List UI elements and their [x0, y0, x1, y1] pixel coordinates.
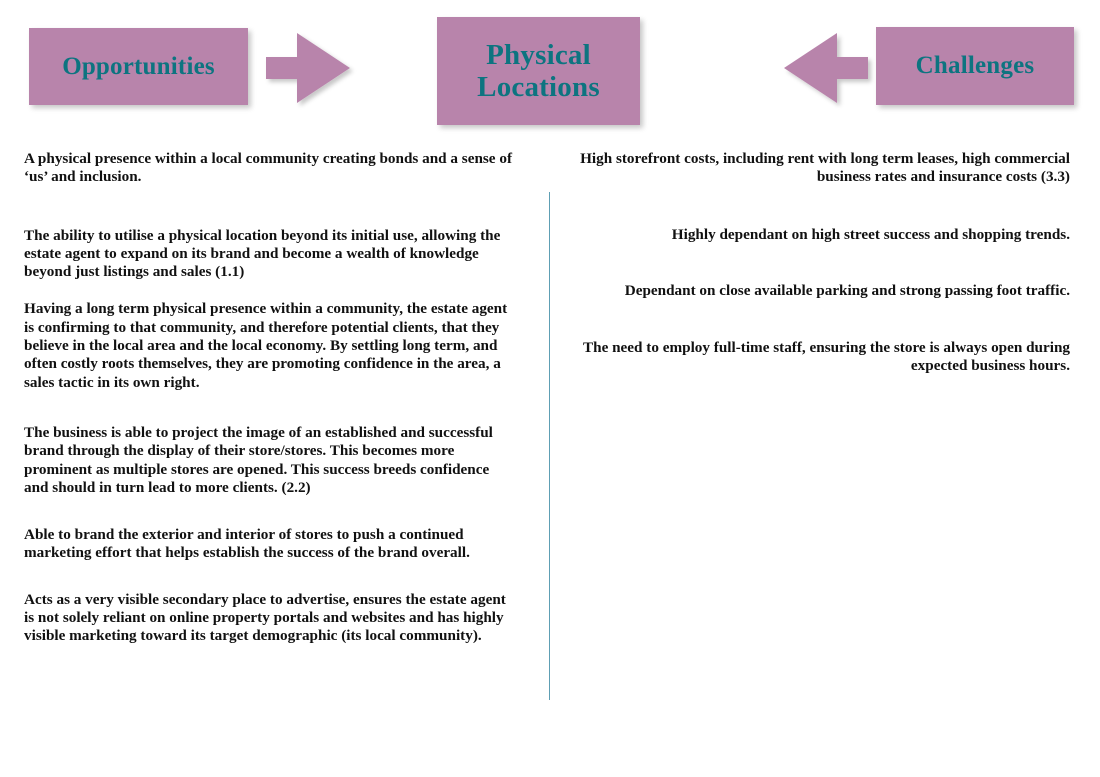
challenges-header-label: Challenges: [876, 52, 1074, 80]
opportunities-paragraph: Acts as a very visible secondary place t…: [24, 591, 516, 646]
physical-locations-line-1: Physical: [486, 39, 591, 71]
slide-canvas: Opportunities Physical Locations: [0, 0, 1100, 777]
column-divider: [549, 192, 550, 700]
arrow-right-icon: [262, 30, 354, 106]
challenges-paragraph: Dependant on close available parking and…: [575, 282, 1070, 300]
opportunities-header-box: Opportunities: [29, 28, 248, 105]
physical-locations-line-2: Locations: [477, 71, 600, 103]
challenges-paragraph: High storefront costs, including rent wi…: [575, 150, 1070, 187]
physical-locations-header-box: Physical Locations: [437, 17, 640, 125]
opportunities-column: A physical presence within a local commu…: [24, 150, 516, 646]
opportunities-paragraph: The ability to utilise a physical locati…: [24, 227, 516, 282]
opportunities-paragraph: Able to brand the exterior and interior …: [24, 526, 516, 563]
opportunities-paragraph: A physical presence within a local commu…: [24, 150, 516, 187]
challenges-column: High storefront costs, including rent wi…: [575, 150, 1070, 376]
challenges-paragraph: Highly dependant on high street success …: [575, 226, 1070, 244]
opportunities-paragraph: Having a long term physical presence wit…: [24, 300, 516, 391]
challenges-paragraph: The need to employ full-time staff, ensu…: [575, 339, 1070, 376]
challenges-header-box: Challenges: [876, 27, 1074, 105]
physical-locations-header-label: Physical Locations: [437, 39, 640, 104]
opportunities-header-label: Opportunities: [29, 53, 248, 81]
opportunities-paragraph: The business is able to project the imag…: [24, 424, 516, 497]
arrow-left-icon: [780, 30, 872, 106]
